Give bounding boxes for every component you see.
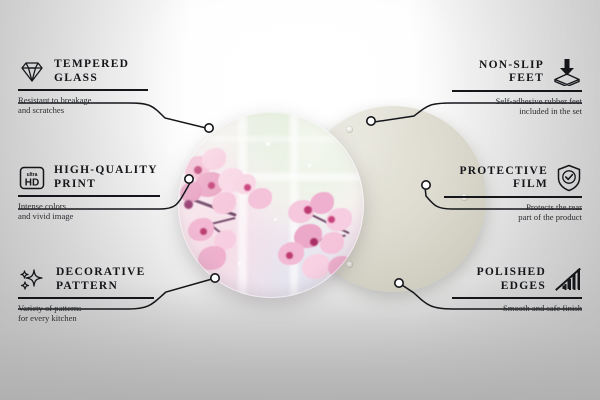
- diagonal-stripes-icon: [554, 268, 582, 292]
- feature-description: Protects the rearpart of the product: [444, 202, 582, 223]
- infographic-canvas: TEMPEREDGLASS Resistant to breakageand s…: [0, 0, 600, 400]
- connector-dot-non-slip-feet: [367, 117, 375, 125]
- feature-title: HIGH-QUALITYPRINT: [54, 164, 158, 191]
- feature-description: Smooth and safe finish: [452, 303, 582, 314]
- title-rule: [18, 297, 154, 299]
- diamond-icon: [18, 60, 46, 84]
- feature-title: TEMPEREDGLASS: [54, 58, 129, 85]
- feature-non-slip-feet: NON-SLIPFEET Self-adhesive rubber feetin…: [452, 58, 582, 117]
- title-rule: [452, 297, 582, 299]
- ultra-hd-icon: ultra HD: [18, 165, 46, 191]
- feature-polished-edges: POLISHEDEDGES Smooth and safe finish: [452, 266, 582, 313]
- feature-title: PROTECTIVEFILM: [459, 165, 548, 192]
- connector-dot-high-quality-print: [185, 175, 193, 183]
- feature-high-quality-print: ultra HD HIGH-QUALITYPRINT Intense color…: [18, 164, 160, 222]
- feature-tempered-glass: TEMPEREDGLASS Resistant to breakageand s…: [18, 58, 148, 116]
- feature-protective-film: PROTECTIVEFILM Protects the rearpart of …: [444, 164, 582, 223]
- feature-title: NON-SLIPFEET: [479, 59, 544, 86]
- connector-dot-protective-film: [422, 181, 430, 189]
- feature-title: DECORATIVEPATTERN: [56, 266, 146, 293]
- svg-text:HD: HD: [25, 177, 39, 188]
- title-rule: [452, 90, 582, 92]
- title-rule: [18, 89, 148, 91]
- feature-decorative-pattern: DECORATIVEPATTERN Variety of patternsfor…: [18, 266, 154, 324]
- sparkles-icon: [18, 268, 48, 292]
- connector-dot-polished-edges: [395, 279, 403, 287]
- title-rule: [18, 195, 160, 197]
- shield-check-icon: [556, 164, 582, 192]
- title-rule: [444, 196, 582, 198]
- arrow-down-pad-icon: [552, 58, 582, 86]
- feature-description: Self-adhesive rubber feetincluded in the…: [452, 96, 582, 117]
- connector-dot-tempered-glass: [205, 124, 213, 132]
- feature-title: POLISHEDEDGES: [477, 266, 546, 293]
- feature-description: Variety of patternsfor every kitchen: [18, 303, 154, 324]
- feature-description: Intense colorsand vivid image: [18, 201, 160, 222]
- feature-description: Resistant to breakageand scratches: [18, 95, 148, 116]
- connector-dot-decorative-pattern: [211, 274, 219, 282]
